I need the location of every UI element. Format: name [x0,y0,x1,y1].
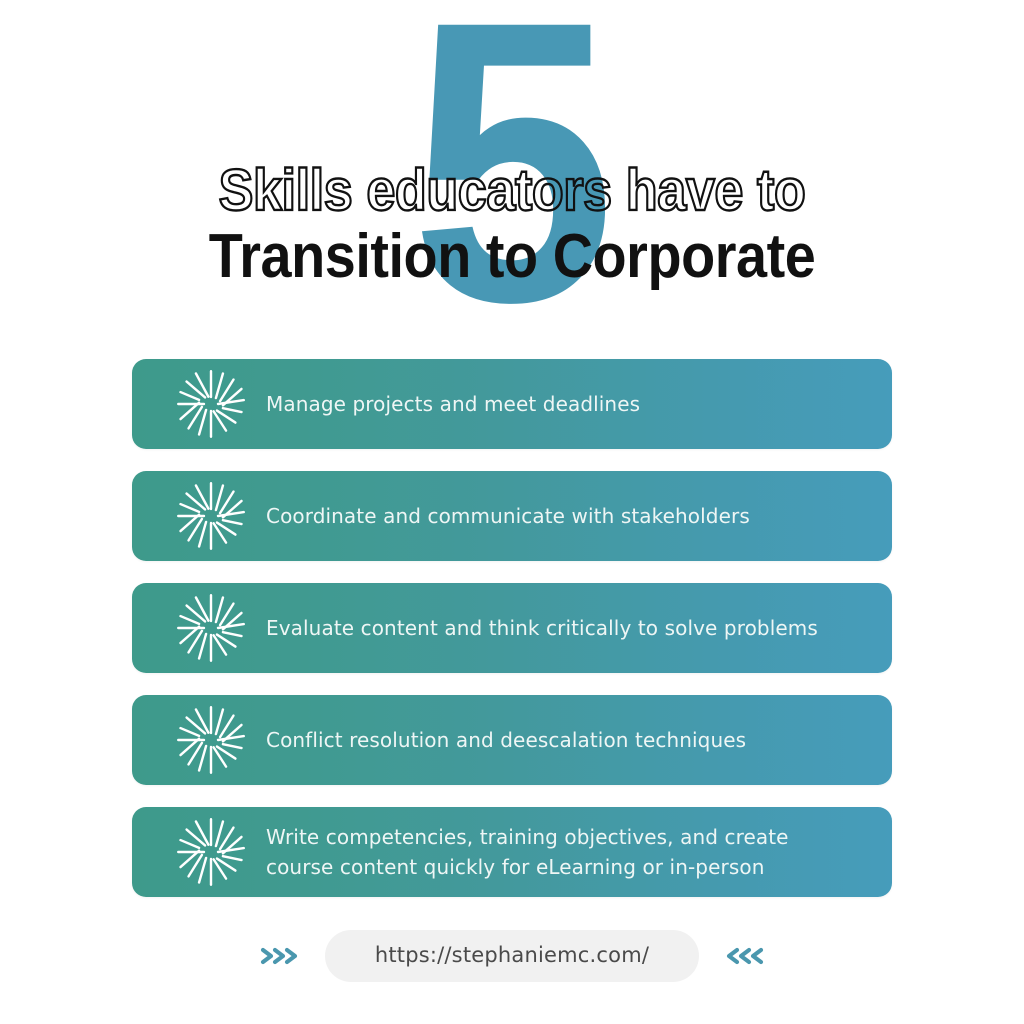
starburst-icon [172,365,250,443]
skill-text-line: Evaluate content and think critically to… [266,616,818,640]
skill-bar-4[interactable]: Conflict resolution and deescalation tec… [132,695,892,785]
skill-bar-3-label: Evaluate content and think critically to… [266,613,866,643]
title-line-outlined: Skills educators have to [51,160,973,222]
starburst-icon [172,813,250,891]
skill-text-line: course content quickly for eLearning or … [266,852,866,882]
page-title: Skills educators have to Transition to C… [0,160,1024,290]
infographic-poster: 5 Skills educators have to Transition to… [0,0,1024,1024]
skill-text-line: Coordinate and communicate with stakehol… [266,504,750,528]
starburst-icon [172,701,250,779]
skill-bar-2-label: Coordinate and communicate with stakehol… [266,501,866,531]
skill-text-line: Conflict resolution and deescalation tec… [266,728,746,752]
skill-bar-1-label: Manage projects and meet deadlines [266,389,866,419]
starburst-icon [172,589,250,667]
skill-bar-3[interactable]: Evaluate content and think critically to… [132,583,892,673]
website-url[interactable]: https://stephaniemc.com/ [325,930,699,982]
skill-bar-5-label: Write competencies, training objectives,… [266,822,866,882]
triple-chevron-right-icon [257,941,303,971]
skill-bar-2[interactable]: Coordinate and communicate with stakehol… [132,471,892,561]
skills-list: Manage projects and meet deadlines [132,359,892,897]
skill-text-line: Manage projects and meet deadlines [266,392,640,416]
triple-chevron-left-icon [721,941,767,971]
title-line-solid: Transition to Corporate [51,224,973,290]
skill-bar-4-label: Conflict resolution and deescalation tec… [266,725,866,755]
hero-section: 5 Skills educators have to Transition to… [0,0,1024,350]
starburst-icon [172,477,250,555]
skill-text-line: Write competencies, training objectives,… [266,825,789,849]
skill-bar-5[interactable]: Write competencies, training objectives,… [132,807,892,897]
footer-url-bar: https://stephaniemc.com/ [0,930,1024,982]
